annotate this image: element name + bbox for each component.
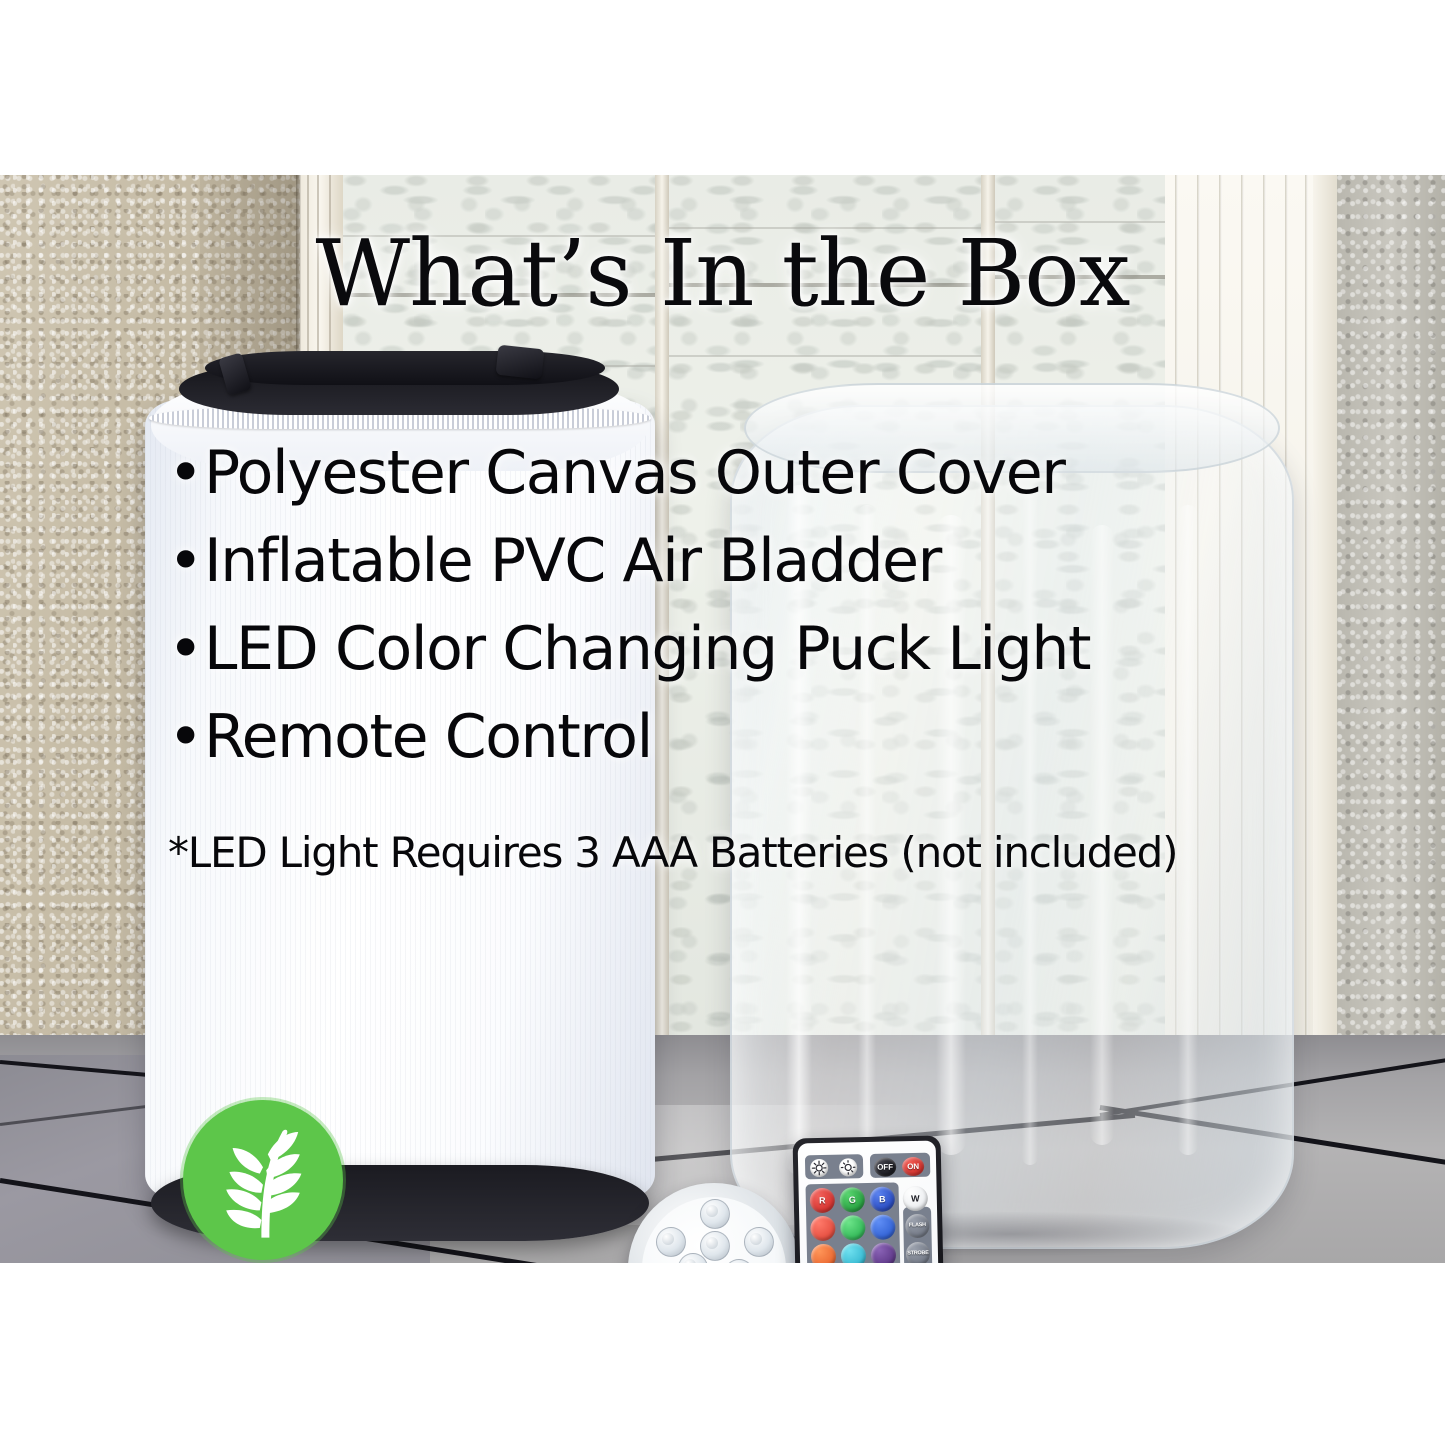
led-lens [700, 1231, 730, 1261]
bullet-marker: • [168, 443, 202, 503]
bag-carry-strap [205, 351, 605, 385]
strap-buckle [496, 345, 545, 380]
list-item: • Polyester Canvas Outer Cover [168, 443, 1238, 503]
gray-stucco-wall [1337, 175, 1445, 1155]
leaf-icon [183, 1100, 343, 1260]
bullet-marker: • [168, 619, 202, 679]
led-lens [700, 1199, 730, 1229]
led-puck-light [628, 1175, 800, 1263]
list-item-label: Polyester Canvas Outer Cover [204, 443, 1065, 503]
bullet-marker: • [168, 707, 202, 767]
list-item: • Inflatable PVC Air Bladder [168, 531, 1238, 591]
brightness-up-icon[interactable] [810, 1159, 828, 1177]
page-title: What’s In the Box [0, 228, 1445, 320]
contents-list: • Polyester Canvas Outer Cover • Inflata… [168, 443, 1238, 795]
led-lens [656, 1227, 686, 1257]
product-infographic: OFF ON R G B W [0, 0, 1445, 1445]
bullet-marker: • [168, 531, 202, 591]
list-item-label: LED Color Changing Puck Light [204, 619, 1090, 679]
camperdoodle-logo-badge [183, 1100, 343, 1260]
list-item-label: Inflatable PVC Air Bladder [204, 531, 941, 591]
battery-footnote: *LED Light Requires 3 AAA Batteries (not… [168, 828, 1258, 877]
list-item: • LED Color Changing Puck Light [168, 619, 1238, 679]
strobe-button[interactable]: STROBE [906, 1242, 930, 1263]
rgb-remote-control[interactable]: OFF ON R G B W [793, 1135, 946, 1263]
led-lens [724, 1259, 754, 1263]
remote-face: OFF ON R G B W [798, 1141, 941, 1263]
list-item-label: Remote Control [204, 707, 652, 767]
list-item: • Remote Control [168, 707, 1238, 767]
brightness-down-icon[interactable] [839, 1158, 857, 1176]
color-button-swatch[interactable] [871, 1242, 897, 1263]
led-lens [744, 1227, 774, 1257]
